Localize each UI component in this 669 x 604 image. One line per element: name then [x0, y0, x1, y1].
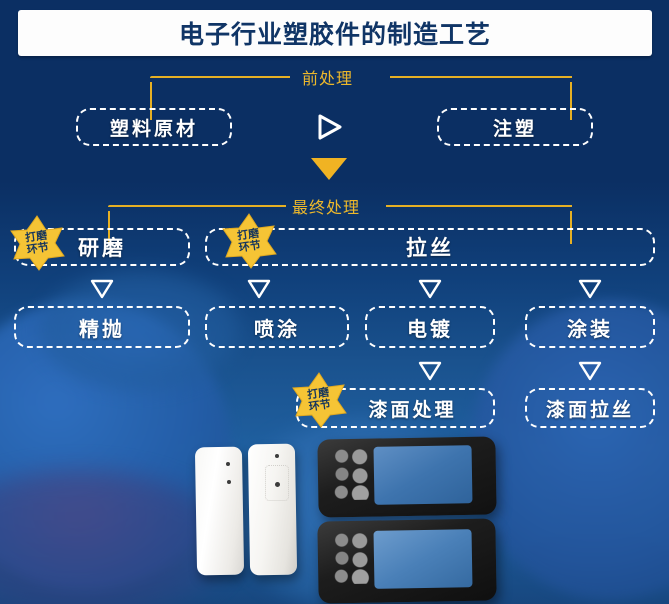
badge-star-brushing-text: 打磨 环节	[236, 228, 261, 255]
node-injection-molding[interactable]: 注塑	[437, 108, 593, 146]
white-plastic-housing-left-hole-2	[227, 480, 231, 484]
stage1-bracket-left-corner	[150, 76, 160, 78]
black-phone-frame-top-window	[374, 445, 473, 505]
badge-star-paint-surface-treatment: 打磨 环节	[290, 371, 348, 429]
page-title: 电子行业塑胶件的制造工艺	[179, 15, 491, 51]
stage1-bracket-left-arm	[158, 76, 290, 78]
node-brushing-label: 拉丝	[406, 232, 454, 262]
down-triangle-icon-4	[577, 278, 603, 305]
node-paint-surface-brushing-label: 漆面拉丝	[546, 395, 634, 422]
node-fine-polishing[interactable]: 精抛	[14, 306, 190, 348]
stage2-bracket-right-corner	[562, 205, 572, 207]
badge-star-grinding: 打磨 环节	[8, 214, 66, 272]
node-raw-material-label: 塑料原材	[110, 114, 198, 141]
white-plastic-housing-right	[248, 444, 297, 576]
stage2-bracket-right-arm	[386, 205, 572, 207]
white-plastic-housing-right-hole	[275, 454, 279, 458]
stage1-bracket-right-corner	[562, 76, 572, 78]
node-injection-molding-label: 注塑	[493, 114, 537, 141]
down-triangle-icon-5	[417, 360, 443, 387]
down-triangle-icon-6	[577, 360, 603, 387]
play-triangle-icon	[310, 110, 346, 146]
white-plastic-housing-right-hole-2	[275, 482, 280, 487]
stage1-label: 前处理	[302, 65, 353, 89]
title-banner: 电子行业塑胶件的制造工艺	[18, 10, 652, 56]
stage2-bracket-left-arm	[116, 205, 286, 207]
down-triangle-icon-3	[417, 278, 443, 305]
node-raw-material[interactable]: 塑料原材	[76, 108, 232, 146]
black-phone-frame-bottom-window	[374, 529, 473, 589]
badge-star-paint-text: 打磨 环节	[306, 387, 331, 414]
node-paint-surface-treatment-label: 漆面处理	[368, 395, 456, 422]
white-plastic-housing-left-hole-1	[226, 462, 230, 466]
node-fine-polishing-label: 精抛	[79, 313, 125, 342]
node-grinding-label: 研磨	[78, 232, 126, 262]
infographic-stage: 电子行业塑胶件的制造工艺 前处理 塑料原材 注塑 最终处理	[0, 0, 669, 604]
white-plastic-housing-left	[195, 447, 244, 576]
black-phone-frame-bottom-cutouts	[330, 532, 371, 585]
black-phone-frame-top-cutouts	[330, 448, 371, 501]
node-spraying-label: 喷涂	[254, 313, 300, 342]
node-electroplating[interactable]: 电镀	[365, 306, 495, 348]
node-spraying[interactable]: 喷涂	[205, 306, 349, 348]
node-coating-label: 涂装	[567, 313, 613, 342]
node-coating[interactable]: 涂装	[525, 306, 655, 348]
node-paint-surface-brushing[interactable]: 漆面拉丝	[525, 388, 655, 428]
down-triangle-icon-2	[246, 278, 272, 305]
badge-star-grinding-text: 打磨 环节	[24, 230, 49, 257]
stage2-bracket-left-corner	[108, 205, 118, 207]
stage2-label: 最终处理	[292, 194, 360, 218]
node-electroplating-label: 电镀	[407, 313, 453, 342]
stage1-bracket-right-arm	[390, 76, 572, 78]
down-triangle-icon-1	[89, 278, 115, 305]
gold-down-triangle-icon	[311, 158, 347, 180]
product-photo	[0, 420, 669, 604]
badge-star-brushing: 打磨 环节	[220, 212, 278, 270]
